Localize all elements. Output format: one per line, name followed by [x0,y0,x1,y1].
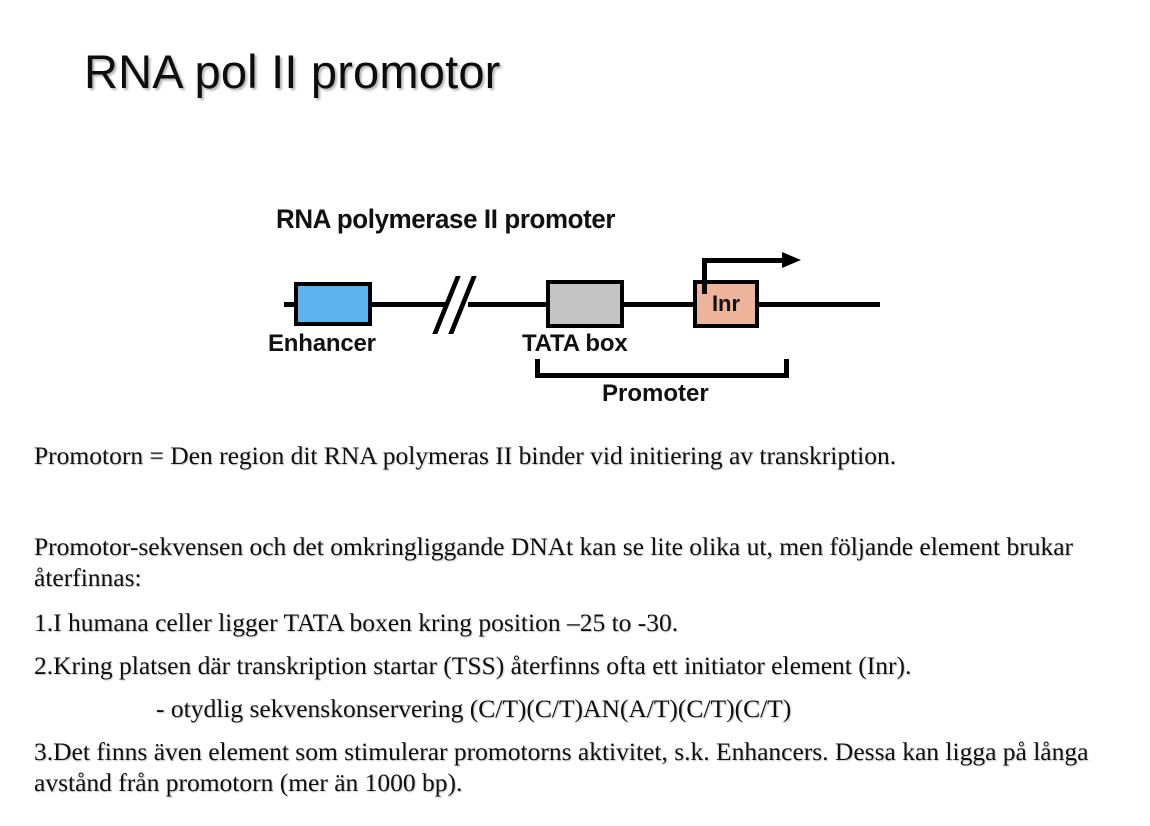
transcription-start-arrow-icon [702,250,832,294]
page-title: RNA pol II promotor [84,44,501,99]
list-item: 2.Kring platsen där transkription starta… [34,650,1119,693]
list-sub-item: - otydlig sekvenskonservering (C/T)(C/T)… [34,693,1119,736]
enhancer-box [294,282,372,326]
definition-paragraph: Promotorn = Den region dit RNA polymeras… [34,440,1119,471]
tata-box [546,280,624,328]
tata-box-label: TATA box [522,330,628,358]
promoter-diagram: RNA polymerase II promoter Enhancer TATA… [250,198,910,418]
list-item: 3.Det finns även element som stimulerar … [34,736,1119,810]
slide-body: Promotorn = Den region dit RNA polymeras… [34,440,1119,810]
promoter-label: Promoter [602,380,709,408]
intro-paragraph: Promotor-sekvensen och det omkringliggan… [34,531,1119,593]
dna-break-slashes-icon [432,276,478,334]
list-item: 1.I humana celler ligger TATA boxen krin… [34,607,1119,650]
diagram-title: RNA polymerase II promoter [276,204,615,235]
promoter-span-bracket [535,358,789,378]
enhancer-label: Enhancer [268,330,376,358]
